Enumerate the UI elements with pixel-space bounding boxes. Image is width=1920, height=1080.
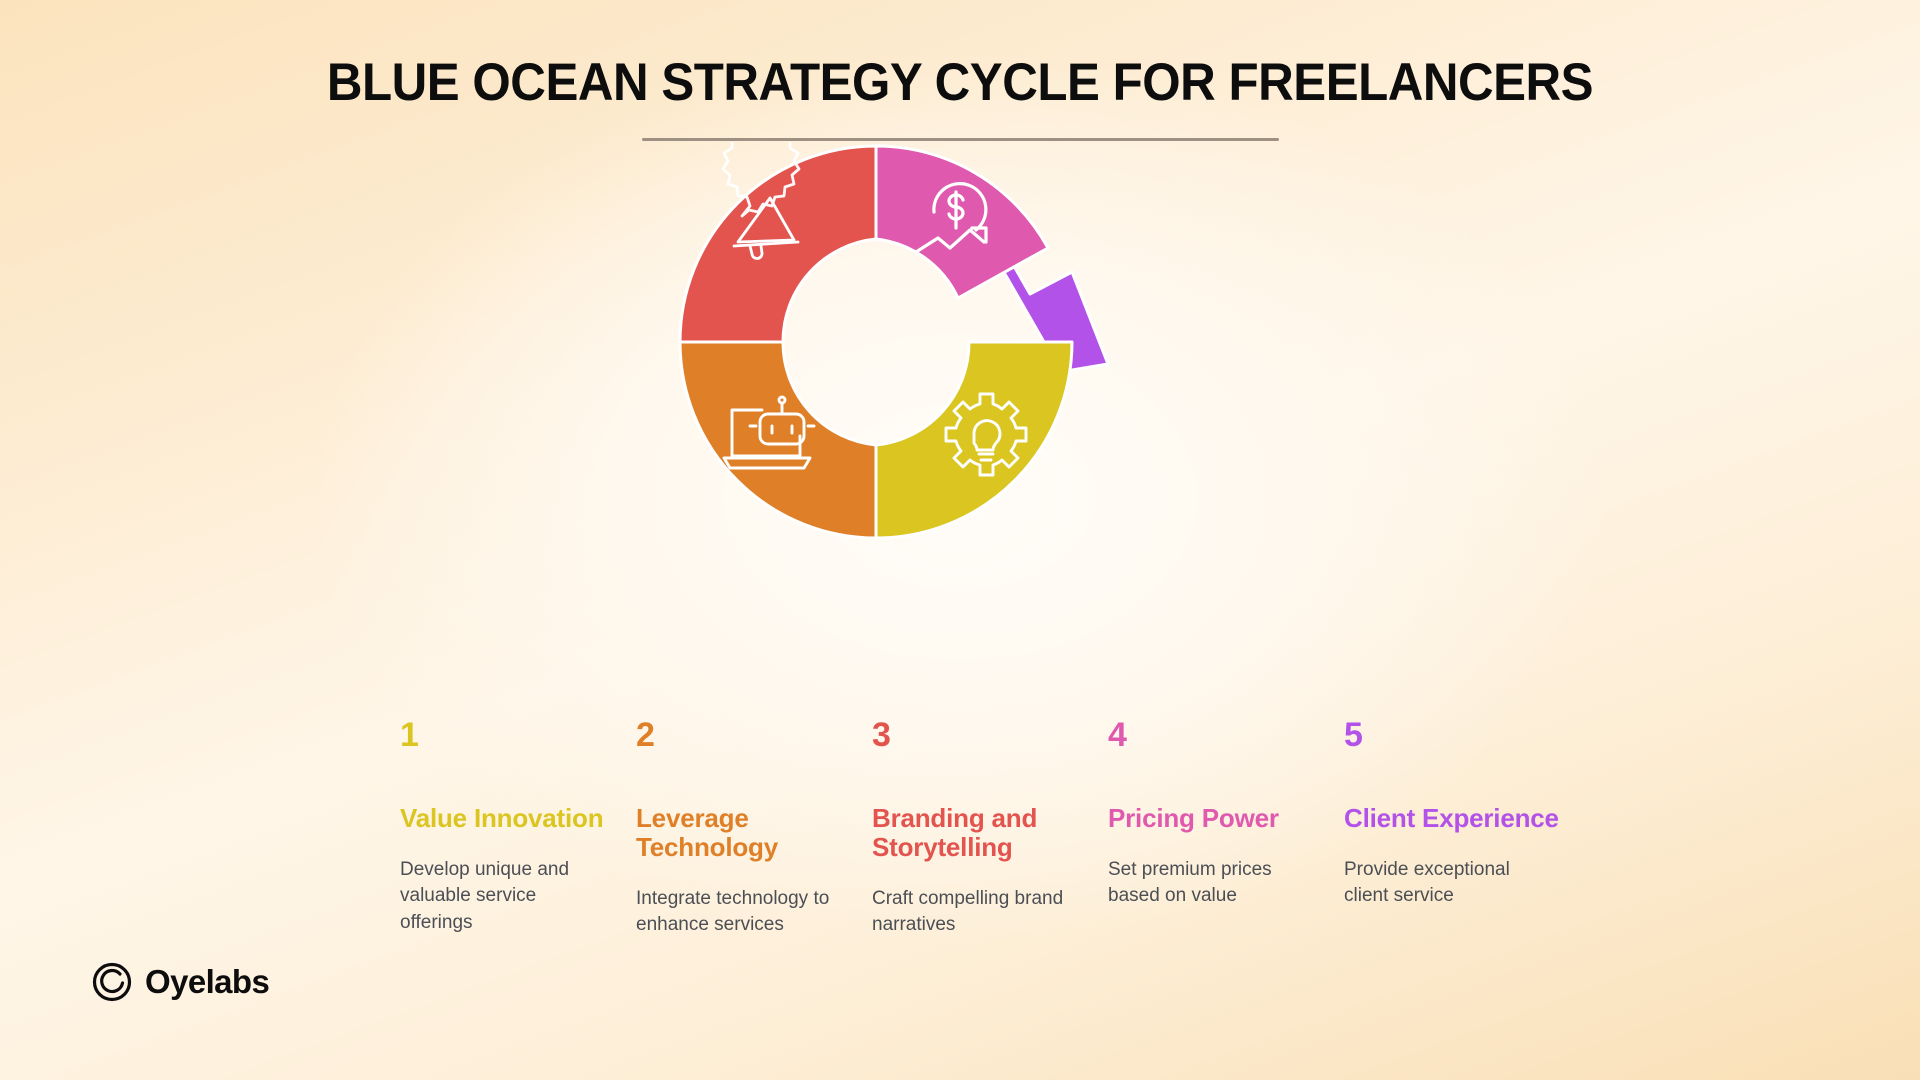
step-title-2: Leverage Technology [636, 804, 869, 862]
step-list: 1 Value Innovation Develop unique and va… [400, 718, 1860, 1018]
step-description-2: Integrate technology to enhance services [636, 886, 836, 938]
step-description-1: Develop unique and valuable service offe… [400, 857, 600, 936]
step-description-5: Provide exceptional client service [1344, 857, 1544, 909]
segment-leverage-technology[interactable] [680, 342, 876, 538]
brand-logo[interactable]: Oyelabs [92, 962, 269, 1002]
step-item-2[interactable]: 2 Leverage Technology Integrate technolo… [636, 718, 869, 1018]
step-title-5: Client Experience [1344, 804, 1577, 833]
step-item-5[interactable]: 5 Client Experience Provide exceptional … [1344, 718, 1577, 1018]
brand-name: Oyelabs [145, 963, 269, 1001]
segment-branding-storytelling[interactable] [680, 142, 876, 342]
step-item-1[interactable]: 1 Value Innovation Develop unique and va… [400, 718, 633, 1018]
page-title: BLUE OCEAN STRATEGY CYCLE FOR FREELANCER… [67, 52, 1853, 113]
segment-value-innovation[interactable] [876, 342, 1072, 538]
step-description-3: Craft compelling brand narratives [872, 886, 1072, 938]
step-number-2: 2 [636, 718, 869, 752]
step-item-4[interactable]: 4 Pricing Power Set premium prices based… [1108, 718, 1341, 1018]
leverage-technology-slice [680, 342, 876, 538]
title-divider [642, 138, 1279, 141]
segment-pricing-power[interactable] [876, 146, 1048, 298]
step-number-4: 4 [1108, 718, 1341, 752]
step-item-3[interactable]: 3 Branding and Storytelling Craft compel… [872, 718, 1105, 1018]
step-title-4: Pricing Power [1108, 804, 1341, 833]
step-description-4: Set premium prices based on value [1108, 857, 1308, 909]
step-title-1: Value Innovation [400, 804, 633, 833]
pricing-power-slice [876, 146, 1048, 298]
step-number-5: 5 [1344, 718, 1577, 752]
step-number-3: 3 [872, 718, 1105, 752]
step-title-3: Branding and Storytelling [872, 804, 1105, 862]
step-number-1: 1 [400, 718, 633, 752]
cycle-diagram [0, 150, 1920, 580]
oyelabs-spiral-logo-icon [92, 962, 132, 1002]
donut-chart-svg [560, 142, 1200, 572]
page-header: BLUE OCEAN STRATEGY CYCLE FOR FREELANCER… [0, 52, 1920, 141]
